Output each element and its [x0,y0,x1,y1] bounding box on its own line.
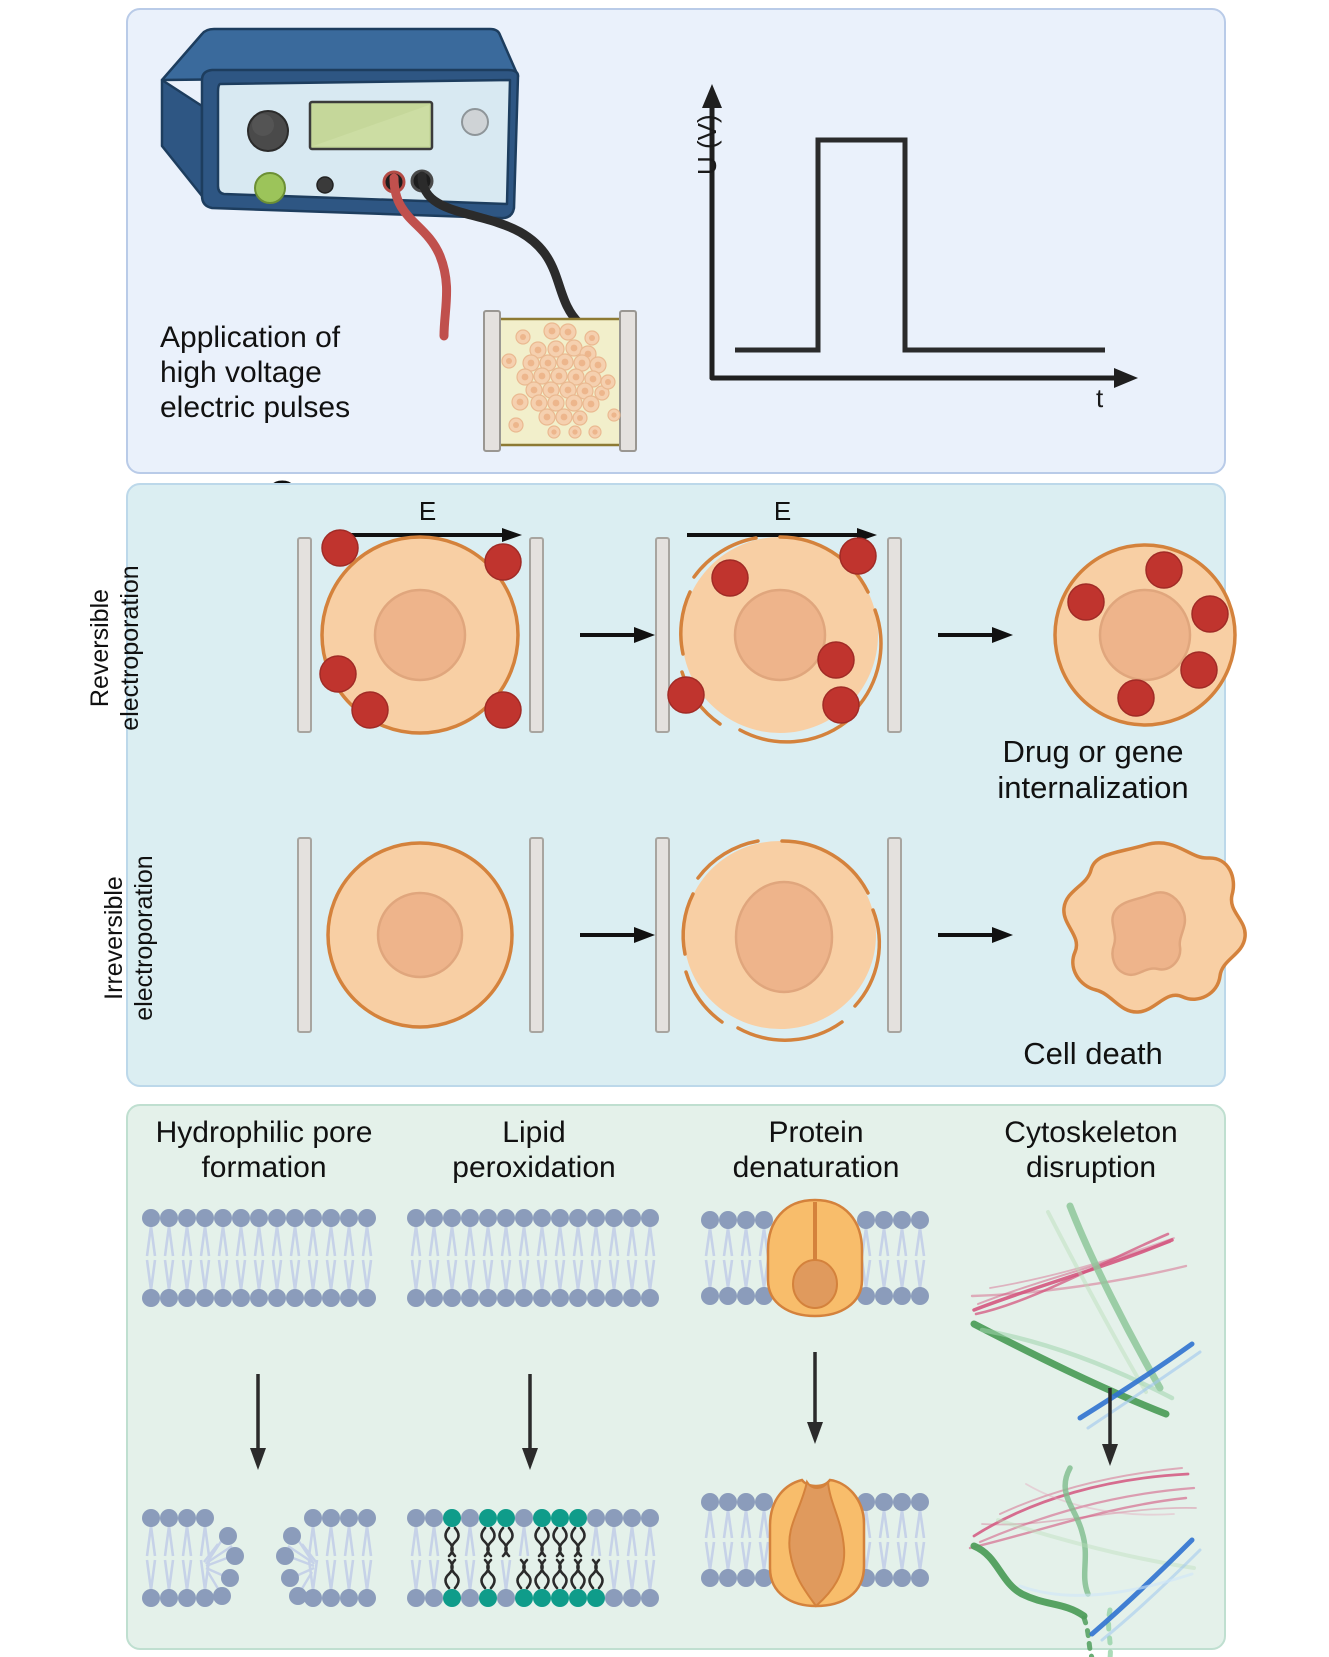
electrode-right [888,538,901,732]
mechanism-column-lipid-peroxidation: Lipid peroxidation [398,1116,670,1185]
caption-line: Application of [160,320,490,355]
figure-electroporation: ELECTROPORATION [0,0,1329,1657]
cytoskeleton-disrupted [970,1468,1200,1657]
cytoskeleton-intact [972,1206,1200,1428]
electrode-left [298,838,311,1032]
cell-nucleus-damaged [1112,892,1185,974]
efield-label: E [419,496,436,527]
mechanism-title: Lipid peroxidation [398,1116,670,1185]
electrode-left [656,538,669,732]
mechanism-column-protein-denaturation: Protein denaturation [680,1116,952,1185]
row-label-line: electroporation [130,808,160,1068]
caption-line: Drug or gene [960,734,1226,770]
row-label-line: Irreversible [100,808,130,1068]
lipid-bilayer-with-pore [142,1509,376,1607]
caption-line: internalization [960,770,1226,806]
cell-nucleus [736,882,832,992]
cell-nucleus [375,590,465,680]
mechanism-title-line: Cytoskeleton [955,1116,1227,1151]
mechanism-title-line: peroxidation [398,1151,670,1186]
membrane-protein-native [701,1200,929,1316]
flow-arrow [992,927,1013,943]
electroporation-cuvette [476,305,648,455]
chart-y-arrow [702,84,722,108]
cell-nucleus [735,590,825,680]
electrode-right [530,538,543,732]
device-power-led [255,173,285,203]
cytoskeleton-disruption-diagram [960,1192,1215,1632]
lipid-peroxidation-diagram [402,1202,664,1622]
application-caption: Application of high voltage electric pul… [160,320,490,425]
lipid-heads [142,1509,376,1607]
transition-arrow [250,1374,266,1470]
mechanism-title: Cytoskeleton disruption [955,1116,1227,1185]
pulse-waveform-chart [690,78,1160,428]
mechanism-title-line: Lipid [398,1116,670,1151]
flow-arrow [634,927,655,943]
electrode-left [656,838,669,1032]
mechanism-title-line: Hydrophilic pore [128,1116,400,1151]
row-label-reversible-electroporation: Reversible electroporation [86,518,145,778]
electrode-right [888,838,901,1032]
cell-nucleus [378,893,462,977]
chart-x-arrow [1114,368,1138,388]
mechanism-title-line: Protein [680,1116,952,1151]
chart-x-axis-label: t [1096,383,1103,414]
hydrophilic-pore-diagram [132,1202,392,1622]
device-indicator-light [462,109,488,135]
mechanism-title: Protein denaturation [680,1116,952,1185]
caption-line: Cell death [960,1036,1226,1072]
caption-cell-death: Cell death [960,1036,1226,1072]
mechanism-title-line: disruption [955,1151,1227,1186]
row-label-line: electroporation [116,518,146,778]
mechanism-title-line: formation [128,1151,400,1186]
cell-nucleus [1100,590,1190,680]
chart-y-axis-label: U (V) [692,114,723,175]
protein-denaturation-diagram [690,1192,940,1622]
transition-arrow [522,1374,538,1470]
chart-pulse-trace [735,140,1105,350]
cuvette-electrode-left [484,311,500,451]
flow-arrow [992,627,1013,643]
flow-arrow [634,627,655,643]
protein-core [793,1260,837,1308]
efield-label: E [774,496,791,527]
cuvette-electrode-right [620,311,636,451]
transition-arrow [807,1352,823,1444]
lipid-bilayer-intact [142,1209,376,1307]
electrode-left [298,538,311,732]
caption-drug-or-gene-internalization: Drug or gene internalization [960,734,1226,806]
caption-line: electric pulses [160,390,490,425]
mechanism-title: Hydrophilic pore formation [128,1116,400,1185]
caption-line: high voltage [160,355,490,390]
irreversible-electroporation-row [290,832,1220,1047]
mechanism-title-line: denaturation [680,1151,952,1186]
row-label-irreversible-electroporation: Irreversible electroporation [100,808,159,1068]
mechanism-column-cytoskeleton-disruption: Cytoskeleton disruption [955,1116,1227,1185]
mechanism-column-hydrophilic-pore: Hydrophilic pore formation [128,1116,400,1185]
electrode-right [530,838,543,1032]
lipid-heads [142,1209,376,1307]
lipid-bilayer-peroxidized [407,1509,659,1607]
lipid-bilayer-normal [407,1209,659,1307]
row-label-line: Reversible [86,518,116,778]
membrane-protein-denatured [701,1480,929,1606]
